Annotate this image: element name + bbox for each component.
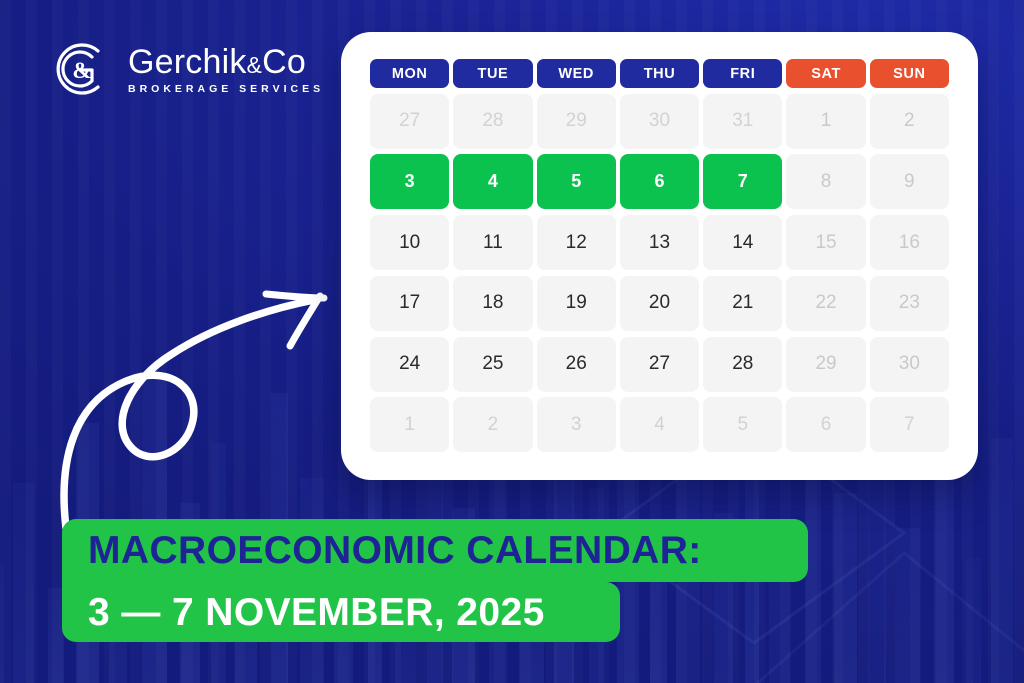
calendar-day-cell[interactable]: 13	[620, 215, 699, 270]
calendar-day-cell[interactable]: 14	[703, 215, 782, 270]
title-banner-row-1: MACROECONOMIC CALENDAR:	[62, 519, 808, 582]
calendar-weekday-header-sat: SAT	[786, 59, 865, 88]
calendar-weekday-header-wed: WED	[537, 59, 616, 88]
calendar-weekday-header-mon: MON	[370, 59, 449, 88]
calendar-day-cell[interactable]: 5	[537, 154, 616, 209]
calendar-day-cell[interactable]: 30	[620, 94, 699, 149]
calendar-day-cell[interactable]: 24	[370, 337, 449, 392]
calendar-weekday-header-fri: FRI	[703, 59, 782, 88]
calendar-weekday-header-thu: THU	[620, 59, 699, 88]
calendar-day-cell[interactable]: 12	[537, 215, 616, 270]
brand-logo: & Gerchik&Co BROKERAGE SERVICES	[52, 38, 324, 100]
calendar-day-cell[interactable]: 15	[786, 215, 865, 270]
calendar-day-cell[interactable]: 28	[453, 94, 532, 149]
calendar-day-cell[interactable]: 27	[370, 94, 449, 149]
calendar-day-cell[interactable]: 10	[370, 215, 449, 270]
brand-tagline: BROKERAGE SERVICES	[128, 83, 324, 95]
calendar-day-cell[interactable]: 23	[870, 276, 949, 331]
calendar-day-cell[interactable]: 29	[537, 94, 616, 149]
calendar-day-cell[interactable]: 4	[620, 397, 699, 452]
page-title-line2: 3 — 7 NOVEMBER, 2025	[88, 593, 545, 632]
calendar-day-cell[interactable]: 16	[870, 215, 949, 270]
calendar-day-cell[interactable]: 3	[370, 154, 449, 209]
calendar-day-cell[interactable]: 27	[620, 337, 699, 392]
calendar-day-cell[interactable]: 8	[786, 154, 865, 209]
calendar-day-cell[interactable]: 1	[786, 94, 865, 149]
brand-name-part2: Co	[262, 43, 306, 81]
calendar-day-cell[interactable]: 9	[870, 154, 949, 209]
calendar-day-cell[interactable]: 26	[537, 337, 616, 392]
calendar-day-cell[interactable]: 6	[786, 397, 865, 452]
calendar-day-cell[interactable]: 3	[537, 397, 616, 452]
calendar-day-cell[interactable]: 7	[870, 397, 949, 452]
calendar-day-cell[interactable]: 20	[620, 276, 699, 331]
page-title-line1: MACROECONOMIC CALENDAR:	[88, 531, 702, 570]
calendar-weekday-header-sun: SUN	[870, 59, 949, 88]
calendar-day-cell[interactable]: 30	[870, 337, 949, 392]
title-banner-row-2: 3 — 7 NOVEMBER, 2025	[62, 582, 620, 642]
brand-name: Gerchik&Co	[128, 45, 324, 80]
calendar-day-cell[interactable]: 2	[453, 397, 532, 452]
gerchik-monogram-icon: &	[52, 38, 114, 100]
calendar-day-cell[interactable]: 29	[786, 337, 865, 392]
calendar-day-cell[interactable]: 17	[370, 276, 449, 331]
calendar-day-cell[interactable]: 18	[453, 276, 532, 331]
brand-name-part1: Gerchik	[128, 43, 247, 81]
calendar-day-cell[interactable]: 11	[453, 215, 532, 270]
calendar-grid: MONTUEWEDTHUFRISATSUN2728293031123456789…	[370, 59, 949, 454]
calendar-day-cell[interactable]: 31	[703, 94, 782, 149]
calendar-day-cell[interactable]: 2	[870, 94, 949, 149]
calendar-day-cell[interactable]: 22	[786, 276, 865, 331]
calendar-day-cell[interactable]: 6	[620, 154, 699, 209]
calendar-day-cell[interactable]: 1	[370, 397, 449, 452]
title-banner: MACROECONOMIC CALENDAR: 3 — 7 NOVEMBER, …	[62, 519, 808, 642]
calendar-day-cell[interactable]: 4	[453, 154, 532, 209]
calendar-weekday-header-tue: TUE	[453, 59, 532, 88]
calendar-day-cell[interactable]: 5	[703, 397, 782, 452]
svg-text:&: &	[72, 58, 91, 83]
calendar-day-cell[interactable]: 7	[703, 154, 782, 209]
brand-name-ampersand: &	[247, 52, 263, 78]
calendar-day-cell[interactable]: 19	[537, 276, 616, 331]
calendar-day-cell[interactable]: 21	[703, 276, 782, 331]
calendar-day-cell[interactable]: 28	[703, 337, 782, 392]
calendar-day-cell[interactable]: 25	[453, 337, 532, 392]
calendar-card: MONTUEWEDTHUFRISATSUN2728293031123456789…	[341, 32, 978, 480]
